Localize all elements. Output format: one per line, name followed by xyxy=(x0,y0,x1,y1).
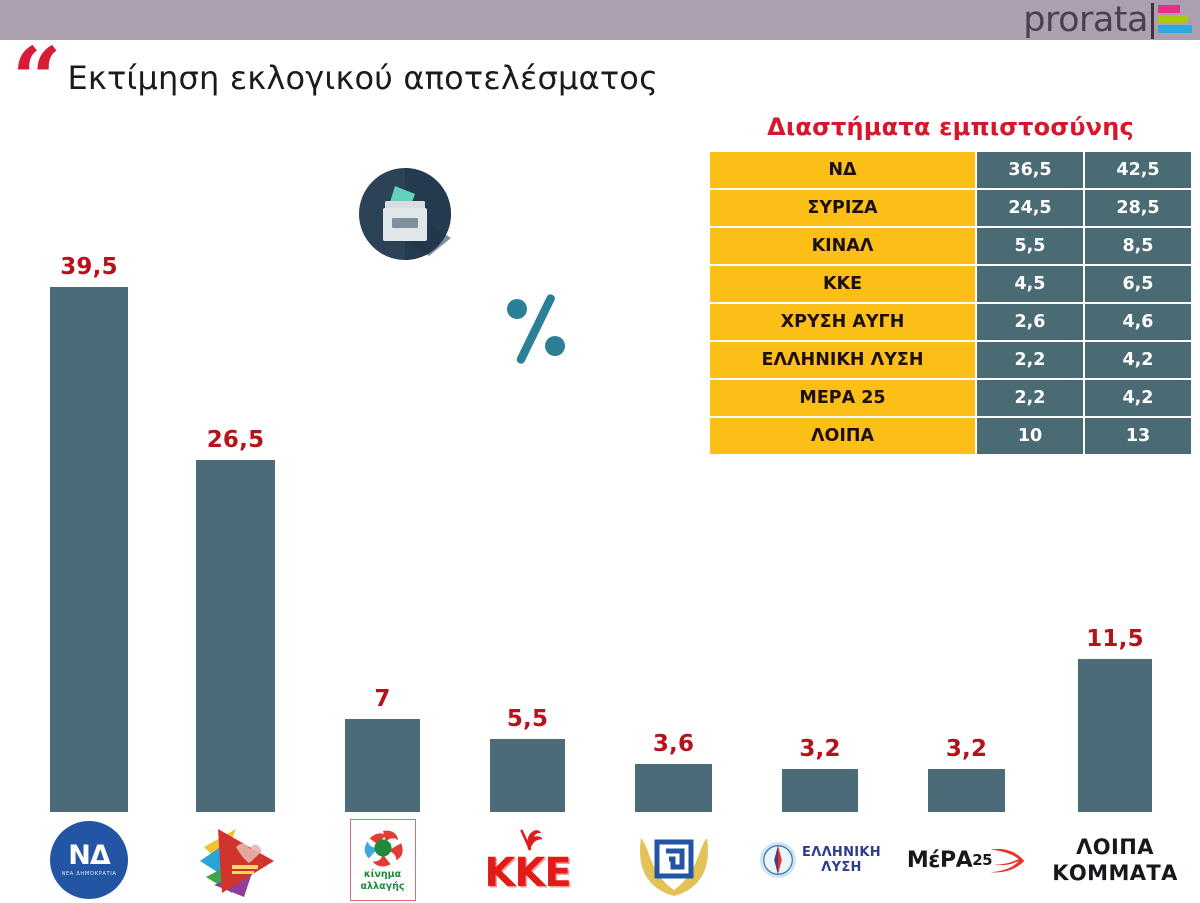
bar-value-label: 3,2 xyxy=(928,736,1005,762)
poll-infographic: prorata “ Εκτίμηση εκλογικού αποτελέσματ… xyxy=(0,0,1200,903)
logo-mera25-mark: MέΡΑ xyxy=(907,848,972,873)
party-logo-slot xyxy=(192,817,280,903)
bar-rect[interactable] xyxy=(345,719,420,812)
bar-rect[interactable] xyxy=(782,769,858,812)
bar-chart: 39,5ΝΔΝΕΑ ΔΗΜΟΚΡΑΤΙΑ26,57κίνημααλλαγής5,… xyxy=(0,0,1200,903)
bar-value-label: 3,2 xyxy=(782,736,858,762)
bar-rect[interactable] xyxy=(490,739,565,812)
logo-kinal-line1: κίνημα xyxy=(364,869,401,880)
bar-group: 7κίνημααλλαγής xyxy=(345,0,420,903)
bar-rect[interactable] xyxy=(196,460,275,812)
bar-group: 3,2ΕΛΛΗΝΙΚΗΛΥΣΗ xyxy=(782,0,858,903)
bar-rect[interactable] xyxy=(928,769,1005,812)
party-logo-slot: ΕΛΛΗΝΙΚΗΛΥΣΗ xyxy=(759,817,881,903)
logo-nd-subtitle: ΝΕΑ ΔΗΜΟΚΡΑΤΙΑ xyxy=(61,871,116,877)
party-logo-slot: κίνημααλλαγής xyxy=(350,817,416,903)
bar-group: 5,5ΚΚΕ xyxy=(490,0,565,903)
logo-loipa-line2: ΚΟΜΜΑΤΑ xyxy=(1052,860,1178,886)
logo-kinal: κίνημααλλαγής xyxy=(350,819,416,901)
logo-elliniki-lysi: ΕΛΛΗΝΙΚΗΛΥΣΗ xyxy=(759,841,881,879)
bar-group: 39,5ΝΔΝΕΑ ΔΗΜΟΚΡΑΤΙΑ xyxy=(50,0,128,903)
logo-mera25: MέΡΑ25 xyxy=(907,844,1026,876)
bar-group: 3,6 xyxy=(635,0,712,903)
party-logo-slot: ΚΚΕ xyxy=(480,817,576,903)
logo-elliniki-lysi-line2: ΛΥΣΗ xyxy=(821,860,861,875)
logo-loipa-line1: ΛΟΙΠΑ xyxy=(1052,834,1178,860)
party-logo-slot: ΛΟΙΠΑΚΟΜΜΑΤΑ xyxy=(1052,817,1178,903)
bar-value-label: 11,5 xyxy=(1078,626,1152,652)
logo-kke-mark: ΚΚΕ xyxy=(480,852,576,894)
bar-rect[interactable] xyxy=(1078,659,1152,812)
logo-kinal-line2: αλλαγής xyxy=(361,881,405,892)
bar-rect[interactable] xyxy=(635,764,712,812)
party-logo-slot: MέΡΑ25 xyxy=(907,817,1026,903)
logo-nd-mark: ΝΔ xyxy=(68,843,110,869)
bar-value-label: 7 xyxy=(345,686,420,712)
bar-value-label: 39,5 xyxy=(50,254,128,280)
logo-syriza xyxy=(192,821,280,899)
party-logo-slot: ΝΔΝΕΑ ΔΗΜΟΚΡΑΤΙΑ xyxy=(50,817,128,903)
logo-kke: ΚΚΕ xyxy=(480,824,576,896)
logo-elliniki-lysi-line1: ΕΛΛΗΝΙΚΗ xyxy=(802,845,881,860)
bar-value-label: 26,5 xyxy=(196,427,275,453)
bar-group: 3,2MέΡΑ25 xyxy=(928,0,1005,903)
bar-rect[interactable] xyxy=(50,287,128,812)
logo-nd: ΝΔΝΕΑ ΔΗΜΟΚΡΑΤΙΑ xyxy=(50,821,128,899)
bar-value-label: 5,5 xyxy=(490,706,565,732)
logo-xrysi-avgi xyxy=(629,822,719,898)
bar-value-label: 3,6 xyxy=(635,731,712,757)
bar-group: 11,5ΛΟΙΠΑΚΟΜΜΑΤΑ xyxy=(1078,0,1152,903)
party-logo-slot xyxy=(629,817,719,903)
logo-loipa-kommata: ΛΟΙΠΑΚΟΜΜΑΤΑ xyxy=(1052,834,1178,886)
bar-group: 26,5 xyxy=(196,0,275,903)
